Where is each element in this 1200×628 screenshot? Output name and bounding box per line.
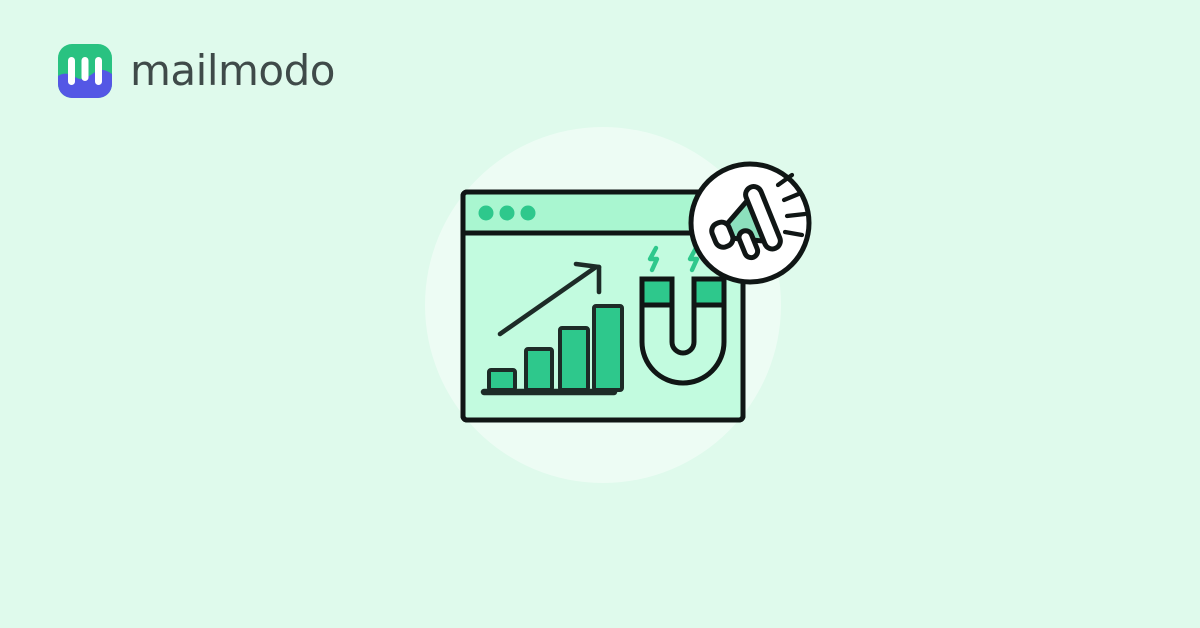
banner-canvas: mailmodo [0, 0, 1200, 628]
browser-dot-yellow [500, 206, 515, 221]
megaphone-badge [691, 164, 809, 282]
magnet-inner-gap [672, 302, 694, 353]
brand-lockup: mailmodo [58, 44, 335, 98]
bar-3 [560, 328, 588, 390]
marketing-analytics-illustration [400, 112, 820, 522]
bar-1 [489, 370, 515, 390]
magnet-pole-right [694, 279, 724, 305]
bar-4 [594, 306, 622, 390]
browser-dot-green [521, 206, 536, 221]
browser-dot-red [479, 206, 494, 221]
brand-wordmark: mailmodo [130, 50, 335, 92]
mailmodo-logo-mark [58, 44, 112, 98]
magnet-pole-left [642, 279, 672, 305]
bar-2 [526, 349, 552, 390]
